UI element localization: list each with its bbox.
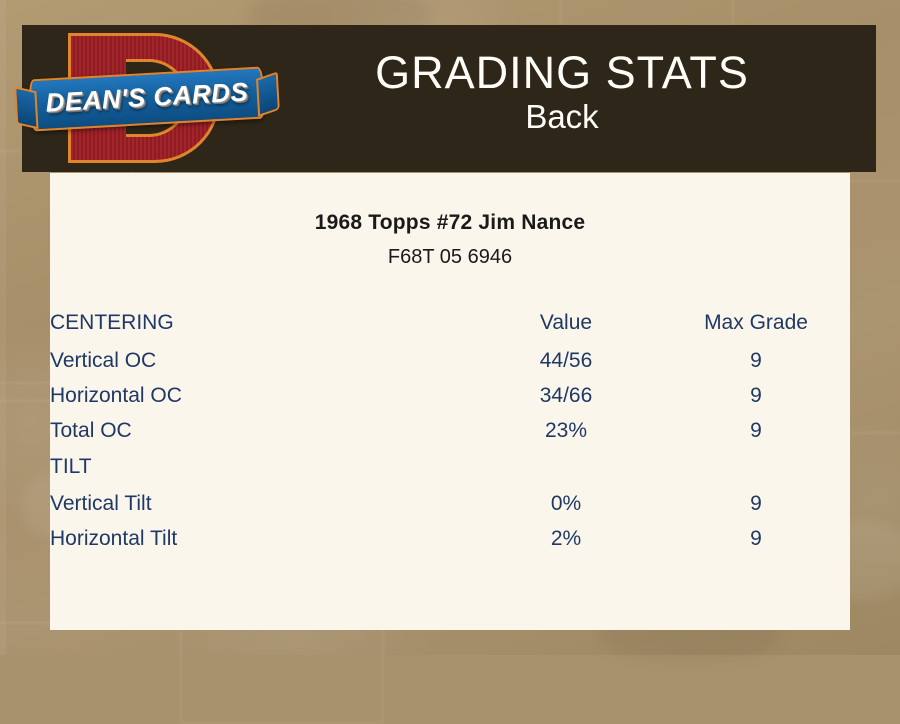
row-label: Horizontal OC: [50, 378, 470, 413]
column-header-value: Value: [470, 303, 662, 343]
table-row: Horizontal OC 34/66 9: [50, 378, 850, 413]
logo-ribbon-banner: DEAN'S CARDS: [29, 67, 266, 132]
header-title-block: GRADING STATS Back: [272, 50, 876, 140]
row-value: 2%: [470, 521, 662, 556]
row-label: Total OC: [50, 413, 470, 448]
column-header-max-grade: Max Grade: [662, 303, 850, 343]
row-value: 23%: [470, 413, 662, 448]
row-value: 44/56: [470, 343, 662, 378]
card-code: F68T 05 6946: [50, 246, 850, 269]
row-max-grade: 9: [662, 486, 850, 521]
row-label: Vertical Tilt: [50, 486, 470, 521]
table-row: Total OC 23% 9: [50, 413, 850, 448]
row-max-grade: 9: [662, 521, 850, 556]
card-title: 1968 Topps #72 Jim Nance: [50, 211, 850, 235]
section-header-tilt: TILT: [50, 448, 850, 486]
row-max-grade: 9: [662, 343, 850, 378]
section-label: TILT: [50, 448, 470, 486]
grading-stats-table: CENTERING Value Max Grade Vertical OC 44…: [50, 303, 850, 556]
content-panel: 1968 Topps #72 Jim Nance F68T 05 6946 CE…: [50, 173, 850, 630]
section-spacer-value: [470, 448, 662, 486]
table-header-row: CENTERING Value Max Grade: [50, 303, 850, 343]
page-subtitle: Back: [272, 95, 852, 140]
column-header-centering: CENTERING: [50, 303, 470, 343]
row-max-grade: 9: [662, 378, 850, 413]
row-label: Vertical OC: [50, 343, 470, 378]
page-title: GRADING STATS: [272, 50, 852, 95]
table-row: Horizontal Tilt 2% 9: [50, 521, 850, 556]
row-value: 0%: [470, 486, 662, 521]
deans-cards-logo[interactable]: DEAN'S CARDS: [22, 25, 272, 172]
logo-ribbon-text: DEAN'S CARDS: [31, 76, 262, 120]
section-spacer-grade: [662, 448, 850, 486]
table-row: Vertical OC 44/56 9: [50, 343, 850, 378]
row-max-grade: 9: [662, 413, 850, 448]
row-value: 34/66: [470, 378, 662, 413]
table-row: Vertical Tilt 0% 9: [50, 486, 850, 521]
row-label: Horizontal Tilt: [50, 521, 470, 556]
header-bar: DEAN'S CARDS GRADING STATS Back: [22, 25, 876, 172]
